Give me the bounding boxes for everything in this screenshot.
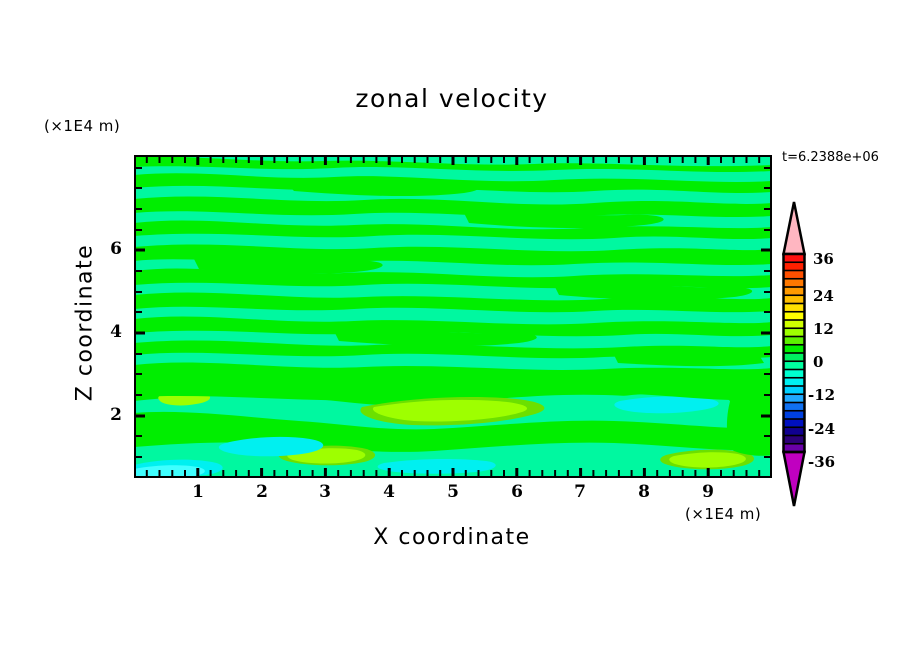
colorbar-band-12 (784, 353, 805, 362)
y-axis-unit-label: (×1E4 m) (44, 117, 120, 135)
y-tick-label-2: 2 (96, 405, 122, 425)
colorbar-band-14 (784, 370, 805, 379)
colorbar-band-22 (784, 436, 805, 445)
x-tick-label-2: 2 (249, 482, 275, 502)
timestamp-label: t=6.2388e+06 (782, 150, 879, 165)
colorbar-band-1 (784, 262, 805, 271)
x-axis-title: X coordinate (0, 525, 904, 550)
colorbar-band-15 (784, 378, 805, 387)
colorbar-band-16 (784, 386, 805, 395)
colorbar-band-10 (784, 337, 805, 346)
x-tick-label-5: 5 (440, 482, 466, 502)
colorbar-band-13 (784, 361, 805, 370)
x-tick-label-4: 4 (376, 482, 402, 502)
colorbar-band-3 (784, 279, 805, 288)
colorbar-band-11 (784, 345, 805, 354)
colorbar-band-7 (784, 312, 805, 321)
colorbar-band-6 (784, 304, 805, 313)
colorbar-band-19 (784, 411, 805, 420)
colorbar-band-20 (784, 419, 805, 428)
y-axis-title: Z coordinate (73, 208, 98, 438)
colorbar-label-24: 24 (813, 287, 834, 305)
colorbar-band-18 (784, 403, 805, 412)
colorbar-band-5 (784, 295, 805, 304)
x-tick-label-1: 1 (185, 482, 211, 502)
colorbar-label-12: 12 (813, 320, 834, 338)
chart-title: zonal velocity (0, 84, 904, 113)
contour-plot-panel[interactable] (134, 155, 772, 478)
colorbar-label-m36: -36 (808, 453, 835, 471)
colorbar-band-8 (784, 320, 805, 329)
colorbar-band-17 (784, 394, 805, 403)
colorbar-band-0 (784, 254, 805, 263)
x-axis-unit-label: (×1E4 m) (685, 505, 761, 523)
colorbar-band-2 (784, 271, 805, 280)
colorbar-label-m24: -24 (808, 420, 835, 438)
x-tick-label-3: 3 (312, 482, 338, 502)
colorbar-band-4 (784, 287, 805, 296)
contour-field (134, 155, 772, 478)
colorbar-label-m12: -12 (808, 386, 835, 404)
y-tick-label-6: 6 (96, 239, 122, 259)
x-tick-label-8: 8 (631, 482, 657, 502)
x-tick-label-6: 6 (504, 482, 530, 502)
colorbar-label-36: 36 (813, 250, 834, 268)
x-tick-label-7: 7 (567, 482, 593, 502)
colorbar-band-9 (784, 328, 805, 337)
y-tick-label-4: 4 (96, 322, 122, 342)
colorbar-band-21 (784, 427, 805, 436)
x-tick-label-9: 9 (695, 482, 721, 502)
colorbar-label-0: 0 (813, 353, 823, 371)
